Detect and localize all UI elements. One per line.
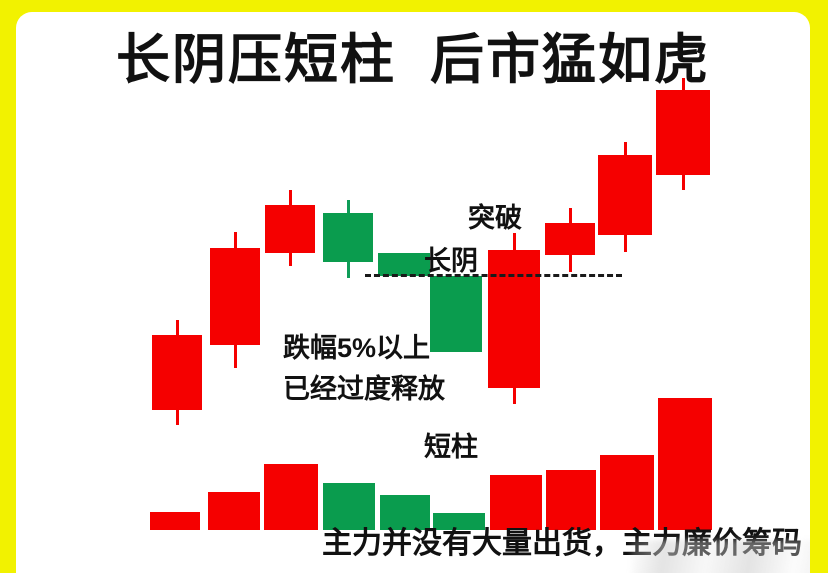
candle-body xyxy=(152,335,202,410)
volume-bar-8 xyxy=(546,470,596,530)
volume-bar-10 xyxy=(658,398,712,530)
candle-1 xyxy=(152,320,202,425)
candle-4 xyxy=(323,200,373,278)
annotation-over-release: 已经过度释放 xyxy=(283,374,445,405)
white-card: 长阴压短柱 后市猛如虎 长阴 突破 短柱 跌幅5%以上 已经过度释放 主力并没有… xyxy=(16,12,810,573)
candle-body xyxy=(656,90,710,175)
candle-body xyxy=(430,276,482,352)
candle-8 xyxy=(545,208,595,272)
volume-bar-2 xyxy=(208,492,260,530)
volume-bar-4 xyxy=(323,483,375,530)
candle-body xyxy=(378,253,430,276)
candle-5 xyxy=(378,253,430,276)
candle-7 xyxy=(488,233,540,404)
volume-bar-3 xyxy=(264,464,318,530)
candle-6 xyxy=(430,276,482,352)
breakout-dashed-line xyxy=(365,274,622,277)
candle-body xyxy=(545,223,595,255)
annotation-changyin: 长阴 xyxy=(424,246,478,277)
candlestick-chart: 长阴 突破 短柱 跌幅5%以上 已经过度释放 主力并没有大量出货，主力廉价筹码 xyxy=(16,12,810,573)
poster-frame: 长阴压短柱 后市猛如虎 长阴 突破 短柱 跌幅5%以上 已经过度释放 主力并没有… xyxy=(0,0,828,573)
volume-bar-5 xyxy=(380,495,430,530)
candle-body xyxy=(323,213,373,262)
candle-body xyxy=(265,205,315,253)
candle-body xyxy=(210,248,260,345)
volume-bar-7 xyxy=(490,475,542,530)
candle-3 xyxy=(265,190,315,266)
volume-bar-9 xyxy=(600,455,654,530)
candle-9 xyxy=(598,142,652,252)
annotation-decline-pct: 跌幅5%以上 xyxy=(283,333,430,364)
candle-body xyxy=(488,250,540,388)
candle-10 xyxy=(656,78,710,190)
candle-body xyxy=(598,155,652,235)
annotation-bottom-note: 主力并没有大量出货，主力廉价筹码 xyxy=(322,527,802,562)
volume-bar-1 xyxy=(150,512,200,530)
annotation-tupo: 突破 xyxy=(468,203,522,234)
candle-2 xyxy=(210,232,260,368)
annotation-duanzhu: 短柱 xyxy=(424,432,478,463)
